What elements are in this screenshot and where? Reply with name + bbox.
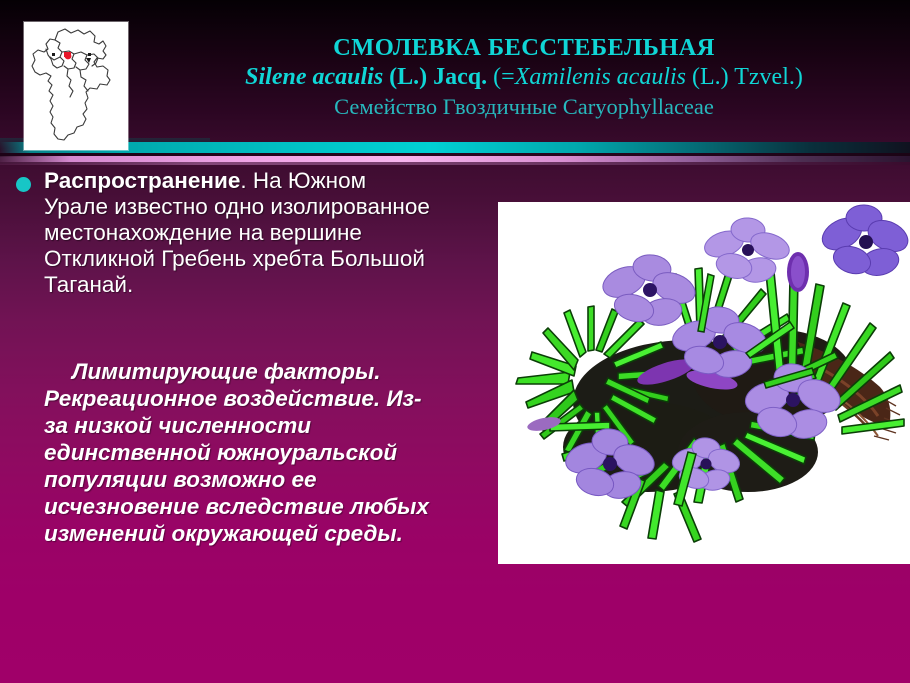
synonym-genus-species: Xamilenis acaulis <box>515 64 692 90</box>
silene-acaulis-illustration <box>498 202 910 564</box>
plant-photo <box>498 202 910 564</box>
bullet-dot-icon <box>16 177 31 192</box>
page-title: СМОЛЕВКА БЕССТЕБЕЛЬНАЯ <box>150 34 898 61</box>
slide-canvas: СМОЛЕВКА БЕССТЕБЕЛЬНАЯ Silene acaulis (L… <box>0 0 910 683</box>
distribution-paragraph: Распространение. На Южном Урале известно… <box>44 168 430 298</box>
bullet-list-item: Распространение. На Южном Урале известно… <box>10 168 430 298</box>
limiting-factors-paragraph: Лимитирующие факторы. Рекреационное возд… <box>44 358 434 547</box>
family-name: Семейство Гвоздичные Caryophyllaceae <box>150 94 898 119</box>
synonym-paren-open: (= <box>493 64 515 90</box>
scientific-name: Silene acaulis (L.) Jacq. (=Xamilenis ac… <box>150 64 898 91</box>
decorative-teal-band <box>0 142 910 153</box>
decorative-pink-band-secondary <box>0 162 910 165</box>
scientific-name-genus-species: Silene acaulis <box>245 64 389 90</box>
title-block: СМОЛЕВКА БЕССТЕБЕЛЬНАЯ Silene acaulis (L… <box>150 34 898 120</box>
distribution-heading: Распространение <box>44 168 240 193</box>
scientific-name-authority: (L.) Jacq. <box>389 64 493 90</box>
synonym-authority: (L.) Tzvel.) <box>692 64 803 90</box>
region-map-logo <box>24 22 128 150</box>
